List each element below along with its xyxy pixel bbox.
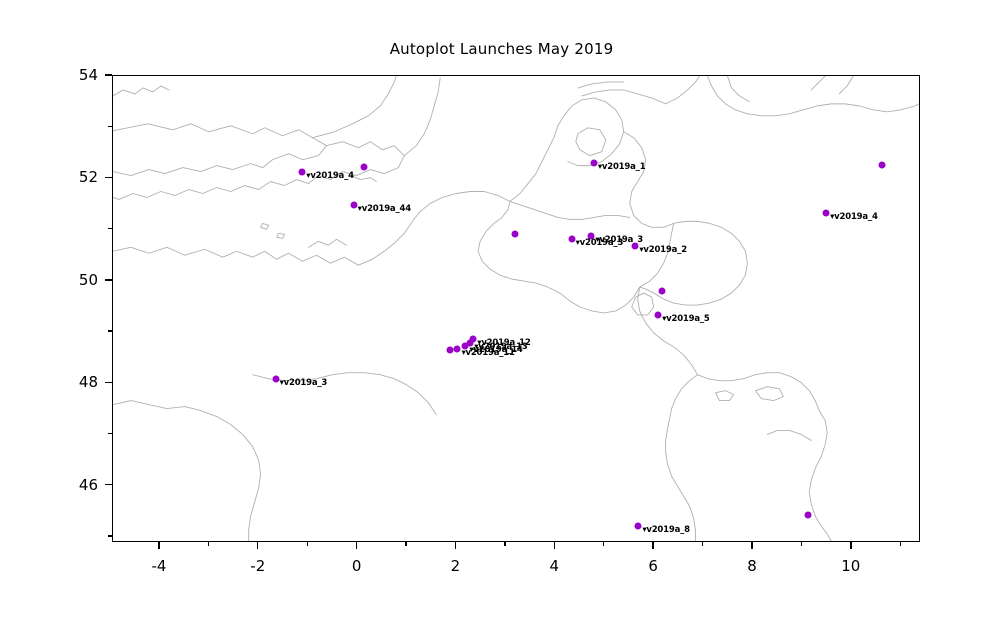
launch-marker[interactable] xyxy=(272,376,279,383)
page-title: Autoplot Launches May 2019 xyxy=(0,40,1003,58)
launch-marker[interactable] xyxy=(299,169,306,176)
x-tick-major xyxy=(356,542,357,549)
launch-marker-label: ▾v2019a_44 xyxy=(358,204,411,214)
launch-marker-label: ▾v2019a_2 xyxy=(639,245,687,255)
launch-marker[interactable] xyxy=(568,235,575,242)
x-tick-major xyxy=(751,542,752,549)
launch-marker[interactable] xyxy=(446,347,453,354)
launch-marker-label: ▾v2019a_1 xyxy=(598,162,646,172)
y-tick-major xyxy=(105,279,112,280)
x-tick-label: 8 xyxy=(747,557,757,575)
x-tick-minor xyxy=(504,542,505,546)
launch-marker-label: ▾v2019a_5 xyxy=(662,314,710,324)
y-tick-major xyxy=(105,177,112,178)
x-tick-label: -4 xyxy=(151,557,166,575)
y-tick-label: 54 xyxy=(60,66,98,84)
launch-marker-label: ▾v2019a_4 xyxy=(306,171,354,181)
launch-marker[interactable] xyxy=(879,162,886,169)
x-tick-minor xyxy=(603,542,604,546)
y-tick-major xyxy=(105,484,112,485)
launch-marker-label: ▾v2019a_11 xyxy=(461,348,514,358)
x-tick-major xyxy=(850,542,851,549)
y-tick-minor xyxy=(108,126,112,127)
x-tick-label: 6 xyxy=(648,557,658,575)
x-tick-major xyxy=(158,542,159,549)
launch-marker[interactable] xyxy=(823,210,830,217)
x-tick-minor xyxy=(801,542,802,546)
y-tick-minor xyxy=(108,228,112,229)
x-tick-minor xyxy=(900,542,901,546)
y-tick-label: 46 xyxy=(60,476,98,494)
y-tick-label: 48 xyxy=(60,373,98,391)
y-tick-label: 50 xyxy=(60,271,98,289)
launch-marker-label: ▾v2019a_4 xyxy=(830,212,878,222)
launch-marker-label: ▾v2019a_3 xyxy=(280,378,328,388)
launch-marker[interactable] xyxy=(454,346,461,353)
x-tick-label: -2 xyxy=(250,557,265,575)
y-tick-major xyxy=(105,74,112,75)
launch-marker[interactable] xyxy=(805,512,812,519)
launch-marker[interactable] xyxy=(511,231,518,238)
figure-canvas: Autoplot Launches May 2019 xyxy=(0,0,1003,633)
x-tick-label: 0 xyxy=(352,557,362,575)
x-tick-minor xyxy=(405,542,406,546)
coastline-map-layer xyxy=(113,76,919,541)
x-tick-label: 10 xyxy=(841,557,860,575)
launch-marker[interactable] xyxy=(632,243,639,250)
x-tick-minor xyxy=(208,542,209,546)
launch-marker[interactable] xyxy=(350,202,357,209)
map-plot-area[interactable]: ▾v2019a_4▾v2019a_44▾v2019a_1▾v2019a_4▾v2… xyxy=(112,75,920,542)
x-tick-minor xyxy=(702,542,703,546)
y-tick-minor xyxy=(108,535,112,536)
x-tick-label: 2 xyxy=(451,557,461,575)
launch-marker[interactable] xyxy=(360,164,367,171)
y-tick-label: 52 xyxy=(60,168,98,186)
x-tick-major xyxy=(455,542,456,549)
launch-marker[interactable] xyxy=(635,522,642,529)
y-tick-minor xyxy=(108,433,112,434)
launch-marker[interactable] xyxy=(655,311,662,318)
x-tick-label: 4 xyxy=(550,557,560,575)
launch-marker[interactable] xyxy=(658,288,665,295)
y-tick-major xyxy=(105,382,112,383)
x-tick-major xyxy=(257,542,258,549)
x-tick-major xyxy=(554,542,555,549)
launch-marker[interactable] xyxy=(590,159,597,166)
y-tick-minor xyxy=(108,330,112,331)
launch-marker-label: ▾v2019a_8 xyxy=(642,525,690,535)
x-tick-major xyxy=(652,542,653,549)
x-tick-minor xyxy=(307,542,308,546)
launch-marker[interactable] xyxy=(588,232,595,239)
